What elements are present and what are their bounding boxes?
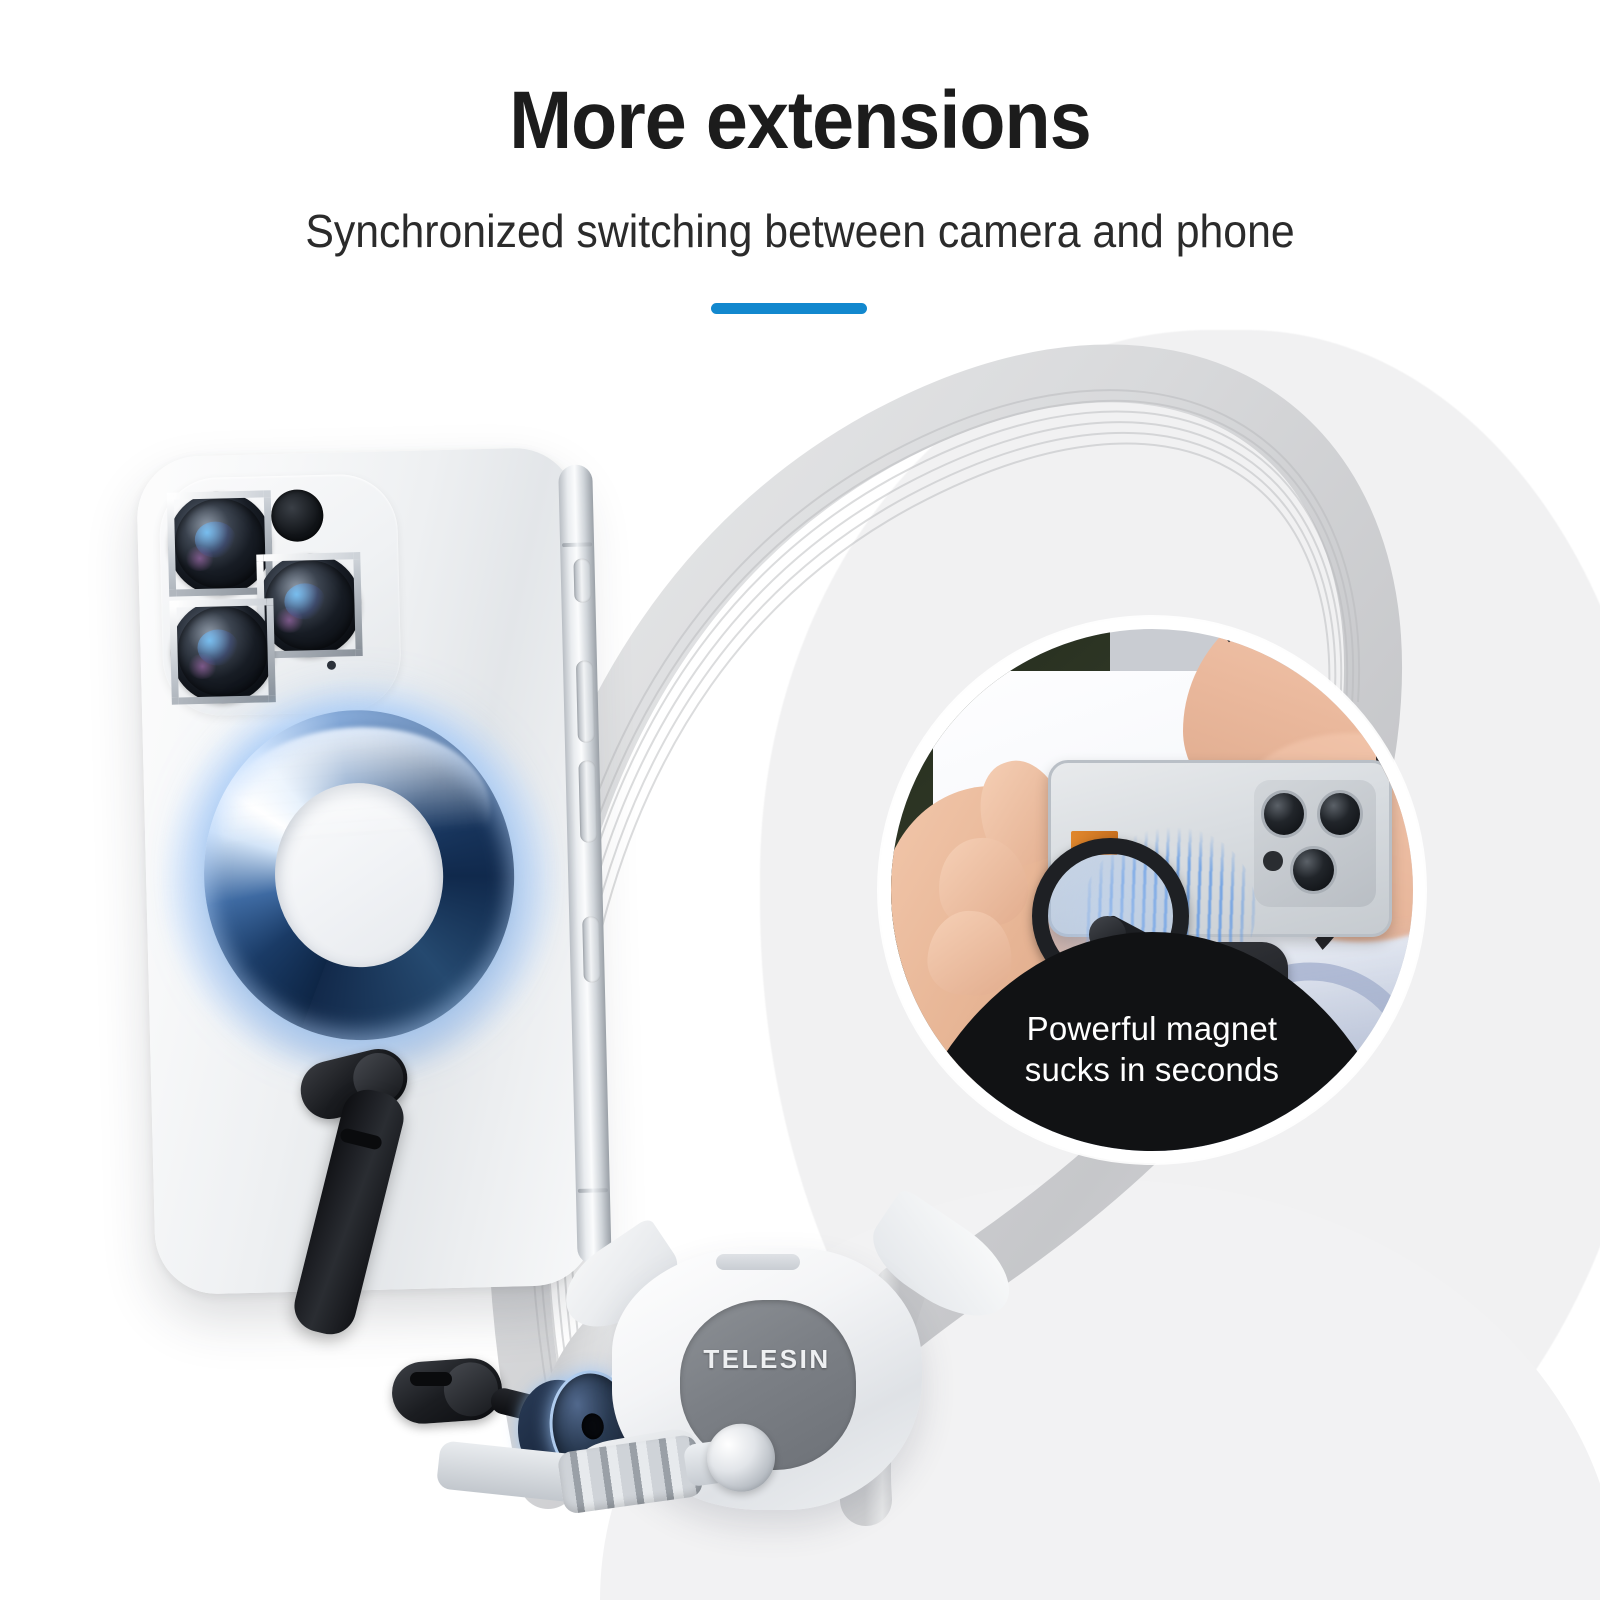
arm-slot-lower: [410, 1372, 452, 1386]
phone-camera-module: [158, 473, 402, 717]
disc-joint-hole: [580, 1412, 605, 1440]
photo-camera-lens-3-icon: [1290, 846, 1336, 894]
product-marketing-banner: More extensions Synchronized switching b…: [0, 0, 1600, 1600]
phone-action-button: [573, 558, 591, 602]
photo-caption-line-1: Powerful magnet: [891, 1008, 1413, 1049]
lifestyle-photo-circle: TELESIN Powerful magnet sucks in seconds: [879, 617, 1425, 1163]
camera-lens-wide-icon: [167, 490, 274, 597]
arm-hinge-lower: [390, 1356, 504, 1426]
phone-camera-control-button: [582, 916, 601, 982]
photo-caption: Powerful magnet sucks in seconds: [891, 1008, 1413, 1091]
photo-caption-line-2: sucks in seconds: [891, 1049, 1413, 1090]
photo-camera-lens-1-icon: [1261, 790, 1307, 838]
photo-phone-camera-module: [1254, 780, 1376, 907]
lifestyle-photo: TELESIN Powerful magnet sucks in seconds: [891, 629, 1413, 1151]
photo-camera-lens-2-icon: [1317, 790, 1363, 838]
camera-flash-icon: [271, 489, 324, 542]
neck-mount-notch: [716, 1254, 800, 1270]
gopro-thumbscrew: [703, 1419, 780, 1496]
camera-lens-ultrawide-icon: [169, 598, 276, 705]
photo-camera-flash-icon: [1263, 851, 1282, 871]
page-subtitle: Synchronized switching between camera an…: [56, 205, 1544, 258]
phone-volume-down-button: [578, 760, 597, 842]
magsafe-ring-mount: [192, 699, 526, 1052]
phone-antenna-seam-bottom: [578, 1188, 608, 1193]
accent-divider: [711, 303, 867, 314]
gopro-fingers: [557, 1434, 704, 1515]
brand-logo-telesin: TELESIN: [612, 1344, 922, 1375]
camera-microphone-icon: [327, 661, 336, 670]
page-title: More extensions: [64, 78, 1536, 164]
phone-antenna-seam-top: [562, 542, 592, 547]
phone-volume-up-button: [576, 660, 595, 742]
